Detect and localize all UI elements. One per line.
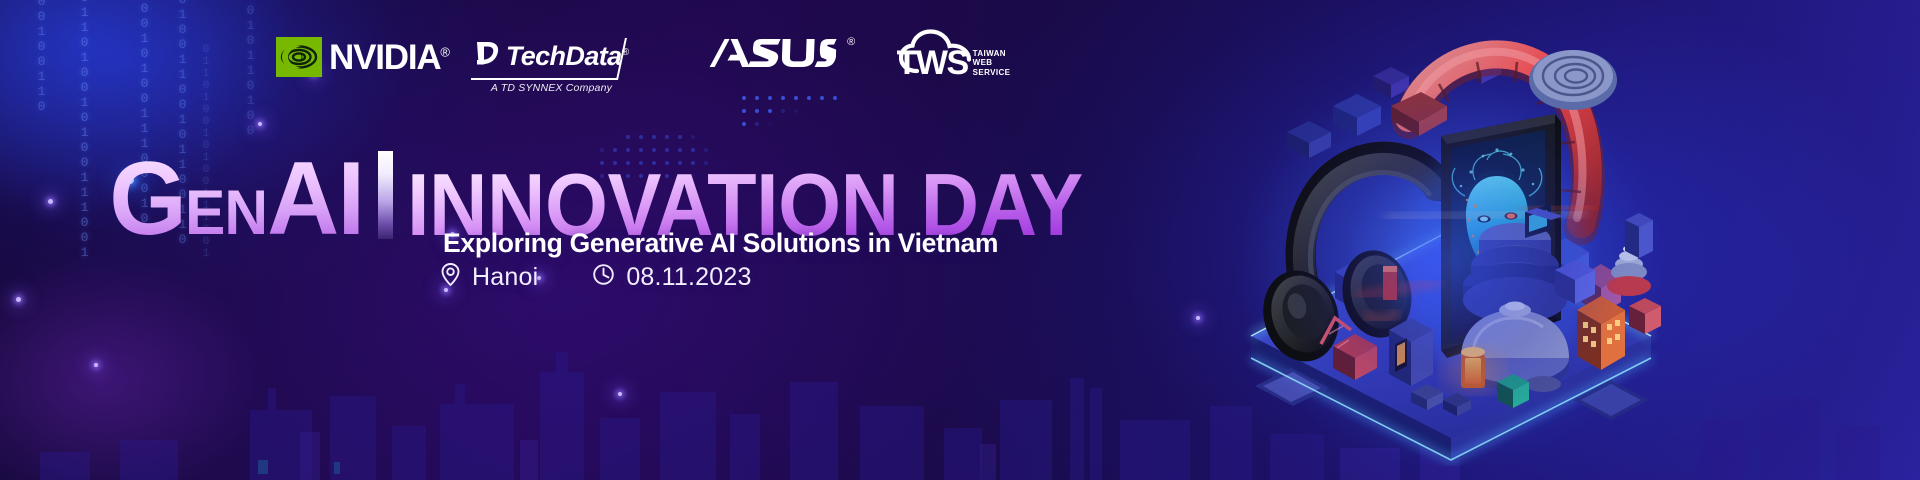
logo-tws[interactable]: TWS TAIWAN WEB SERVICE bbox=[897, 34, 1011, 80]
meta-date: 08.11.2023 bbox=[592, 263, 751, 292]
logo-tech-data[interactable]: TechData® A TD SYNNEX Company bbox=[471, 34, 639, 78]
tws-subline-taiwan: TAIWAN bbox=[973, 49, 1011, 59]
brand-genai: GENAI bbox=[109, 156, 363, 243]
clock-icon bbox=[592, 263, 615, 291]
glow-particle bbox=[94, 363, 98, 367]
glow-particle bbox=[618, 392, 622, 396]
binary-stream-1: 00100110 bbox=[34, 0, 49, 114]
event-meta-row: Hanoi 08.11.2023 bbox=[440, 262, 752, 292]
binary-stream-2: 011010010100111001 bbox=[77, 0, 92, 260]
illustration-glow bbox=[1195, 0, 1707, 480]
glow-particle bbox=[48, 199, 53, 204]
tws-sublines: TAIWAN WEB SERVICE bbox=[973, 49, 1011, 78]
binary-stream-5: 0010110100 bbox=[243, 0, 258, 138]
brand-genai-ai: AI bbox=[267, 156, 363, 243]
brand-genai-en: EN bbox=[185, 187, 267, 240]
cloud-icon bbox=[899, 28, 977, 79]
glow-particle bbox=[16, 297, 21, 302]
meta-location: Hanoi bbox=[440, 262, 538, 292]
brand-genai-g: G bbox=[109, 156, 185, 243]
bottom-left-magenta-glow bbox=[0, 220, 360, 480]
techdata-underline bbox=[471, 78, 617, 80]
dot-matrix-upper bbox=[742, 96, 837, 126]
techdata-d-icon bbox=[475, 39, 501, 73]
logo-nvidia[interactable]: NVIDIA® bbox=[276, 34, 449, 80]
location-pin-icon bbox=[440, 262, 461, 292]
glow-particle bbox=[258, 122, 262, 126]
asus-wordmark: ® bbox=[704, 33, 852, 80]
tws-subline-service: SERVICE bbox=[973, 68, 1011, 78]
techdata-wordmark: TechData® bbox=[506, 43, 629, 70]
ai-city-illustration bbox=[1225, 14, 1677, 466]
nvidia-eye-icon bbox=[276, 37, 322, 77]
location-value: Hanoi bbox=[472, 263, 538, 292]
date-value: 08.11.2023 bbox=[626, 263, 751, 292]
event-subtitle: Exploring Generative AI Solutions in Vie… bbox=[443, 228, 998, 259]
partner-logo-row: NVIDIA® TechData® A TD SYNNEX Company bbox=[276, 34, 1010, 96]
techdata-tagline: A TD SYNNEX Company bbox=[491, 82, 612, 94]
headline-divider-bar bbox=[378, 151, 393, 239]
logo-asus[interactable]: ® bbox=[704, 34, 850, 78]
event-banner: 00100110 011010010100111001 100101001110… bbox=[0, 0, 1920, 480]
nvidia-wordmark: NVIDIA® bbox=[329, 40, 449, 75]
tws-subline-web: WEB bbox=[973, 58, 1011, 68]
